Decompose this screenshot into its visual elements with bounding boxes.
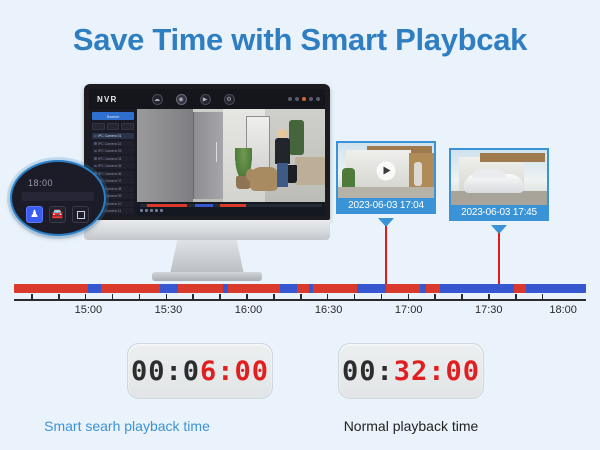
timeline-tick-label: 16:00: [235, 304, 263, 316]
magnifier-filter-buttons[interactable]: ♟ 🚘: [26, 206, 89, 223]
sidebar-item-camera[interactable]: IPC Camera 01: [92, 133, 134, 139]
timeline-blue-segment: [160, 284, 178, 293]
event-timestamp: 2023-06-03 17:45: [449, 205, 549, 221]
power-icon[interactable]: [316, 97, 320, 101]
magnifier-callout: 18:00 ♟ 🚘: [10, 160, 106, 236]
nvr-topbar: NVR ☁ ◉ ▶ ⚙: [89, 89, 325, 109]
timeline-tick: [434, 294, 436, 301]
hedge: [289, 120, 304, 155]
camera-dot-icon: [94, 157, 97, 160]
person-filter-icon[interactable]: ♟: [26, 206, 43, 223]
stop-icon[interactable]: [150, 209, 153, 212]
clock-red-part: 32:00: [394, 356, 480, 387]
thumb-person: [414, 162, 423, 186]
clock-digits: 00:32:00: [342, 356, 480, 387]
timeline-tick: [166, 294, 168, 301]
monitor-screen: NVR ☁ ◉ ▶ ⚙ Search: [89, 89, 325, 216]
sidebar-item-camera[interactable]: IPC Camera 05: [92, 163, 134, 169]
sidebar-icon-row[interactable]: [92, 123, 134, 130]
normal-playback-clock: 00:32:00: [338, 343, 484, 399]
monitor-stand-base: [152, 272, 262, 281]
timeline-blue-segment: [88, 284, 101, 293]
timeline-track[interactable]: [14, 284, 586, 293]
bench: [295, 157, 325, 185]
event-thumbnail[interactable]: [449, 148, 549, 205]
timeline-tick: [515, 294, 517, 301]
camera-dot-icon: [94, 150, 97, 153]
normal-playback-caption: Normal playback time: [281, 418, 541, 434]
timeline-tick: [219, 294, 221, 301]
timeline-tick: [542, 294, 544, 301]
clock-digits: 00:06:00: [131, 356, 269, 387]
monitor-bezel: NVR ☁ ◉ ▶ ⚙ Search: [84, 84, 330, 220]
timeline-tick: [488, 294, 490, 301]
nvr-toolbar[interactable]: ☁ ◉ ▶ ⚙: [152, 94, 235, 105]
timeline-tick-label: 18:00: [549, 304, 577, 316]
clock-red-part: 6:00: [200, 356, 269, 387]
scrubber-segment: [220, 204, 245, 207]
timeline-blue-segment: [526, 284, 586, 293]
list-icon[interactable]: [107, 123, 120, 130]
camera-icon[interactable]: ◉: [176, 94, 187, 105]
page-title: Save Time with Smart Playbcak: [0, 22, 600, 58]
timeline-blue-segment: [280, 284, 297, 293]
cloud-icon[interactable]: ☁: [152, 94, 163, 105]
sidebar-item-camera[interactable]: IPC Camera 04: [92, 156, 134, 162]
camera-label: IPC Camera 05: [98, 164, 121, 168]
event-timestamp: 2023-06-03 17:04: [336, 198, 436, 214]
empty-filter-icon[interactable]: [72, 206, 89, 223]
timeline-blue-segment: [309, 284, 314, 293]
maximize-icon[interactable]: [295, 97, 299, 101]
door-right: [193, 112, 223, 199]
camera-label: IPC Camera 06: [98, 172, 121, 176]
play-icon[interactable]: [377, 161, 396, 180]
minimize-icon[interactable]: [288, 97, 292, 101]
event-connector-line: [498, 233, 500, 288]
thumb-roof: [480, 153, 545, 162]
event-card[interactable]: 2023-06-03 17:04: [336, 141, 436, 214]
scrubber-segment: [147, 204, 187, 207]
timeline-blue-segment: [420, 284, 426, 293]
camera-label: IPC Camera 04: [98, 157, 121, 161]
camera-label: IPC Camera 01: [98, 134, 121, 138]
camera-label: IPC Camera 02: [98, 142, 121, 146]
forward-icon[interactable]: [160, 209, 163, 212]
filter-icon[interactable]: [121, 123, 134, 130]
timeline-blue-segment: [440, 284, 514, 293]
grid-icon[interactable]: [92, 123, 105, 130]
thumb-plant: [342, 168, 355, 187]
user-icon[interactable]: [309, 97, 313, 101]
playback-buttons[interactable]: [140, 209, 322, 212]
timeline-tick: [300, 294, 302, 301]
timeline-tick-label: 17:30: [475, 304, 503, 316]
playback-icon[interactable]: ▶: [200, 94, 211, 105]
thumb-ground: [338, 187, 434, 198]
timeline-tick: [192, 294, 194, 301]
door-left: [137, 109, 193, 202]
door-handle: [216, 142, 218, 162]
nvr-logo: NVR: [97, 95, 118, 104]
vehicle-filter-icon[interactable]: 🚘: [49, 206, 66, 223]
video-viewport[interactable]: [137, 109, 325, 202]
timeline-tick: [273, 294, 275, 301]
clock-dark-part: 00:: [342, 356, 394, 387]
timeline-tick: [112, 294, 114, 301]
timeline-tick: [139, 294, 141, 301]
timeline-tick-label: 17:00: [395, 304, 423, 316]
camera-dot-icon: [94, 165, 97, 168]
sidebar-item-camera[interactable]: IPC Camera 06: [92, 171, 134, 177]
playback-scrubber[interactable]: [140, 204, 322, 207]
timeline-tick-label: 15:30: [155, 304, 183, 316]
timeline-axis: [14, 299, 586, 301]
timeline-blue-segment: [357, 284, 386, 293]
timeline-tick-label: 16:30: [315, 304, 343, 316]
scrubber-segment: [195, 204, 213, 207]
magnifier-strip: [22, 192, 94, 201]
camera-dot-icon: [94, 135, 97, 138]
thumb-car: [464, 174, 524, 193]
timeline-tick: [58, 294, 60, 301]
settings-icon[interactable]: ⚙: [224, 94, 235, 105]
window-controls[interactable]: [288, 97, 320, 101]
search-button[interactable]: Search: [92, 112, 134, 120]
event-card[interactable]: 2023-06-03 17:45: [449, 148, 549, 221]
timeline-tick: [327, 294, 329, 301]
sidebar-item-camera[interactable]: IPC Camera 02: [92, 141, 134, 147]
magnifier-time-label: 18:00: [28, 178, 53, 188]
video-scene: [137, 109, 325, 202]
timeline-labels: 15:0015:3016:0016:3017:0017:3018:00: [14, 304, 586, 320]
timeline-tick: [381, 294, 383, 301]
alert-icon[interactable]: [302, 97, 306, 101]
clock-dark-part: 00:0: [131, 356, 200, 387]
smart-playback-clock: 00:06:00: [127, 343, 273, 399]
person-legs: [277, 163, 288, 187]
event-connector-line: [385, 226, 387, 288]
timeline-tick: [85, 294, 87, 301]
smart-playback-caption: Smart searh playback time: [0, 418, 257, 434]
person-walking: [274, 129, 291, 187]
person-body: [275, 138, 290, 164]
timeline-tick: [246, 294, 248, 301]
main-timeline[interactable]: 15:0015:3016:0016:3017:0017:3018:00: [14, 284, 586, 320]
timeline-blue-segment: [223, 284, 229, 293]
event-thumbnail[interactable]: [336, 141, 436, 198]
timeline-tick: [461, 294, 463, 301]
rewind-icon[interactable]: [155, 209, 158, 212]
timeline-tick-label: 15:00: [75, 304, 103, 316]
sidebar-item-camera[interactable]: IPC Camera 03: [92, 148, 134, 154]
monitor-chin: [84, 220, 330, 240]
timeline-tick: [31, 294, 33, 301]
monitor-stand-neck: [170, 240, 244, 274]
pause-icon[interactable]: [145, 209, 148, 212]
timeline-tick: [408, 294, 410, 301]
camera-dot-icon: [94, 142, 97, 145]
play-icon[interactable]: [140, 209, 143, 212]
camera-label: IPC Camera 03: [98, 149, 121, 153]
timeline-tick: [354, 294, 356, 301]
video-playback-timeline[interactable]: [137, 202, 325, 216]
monitor: NVR ☁ ◉ ▶ ⚙ Search: [84, 84, 330, 284]
